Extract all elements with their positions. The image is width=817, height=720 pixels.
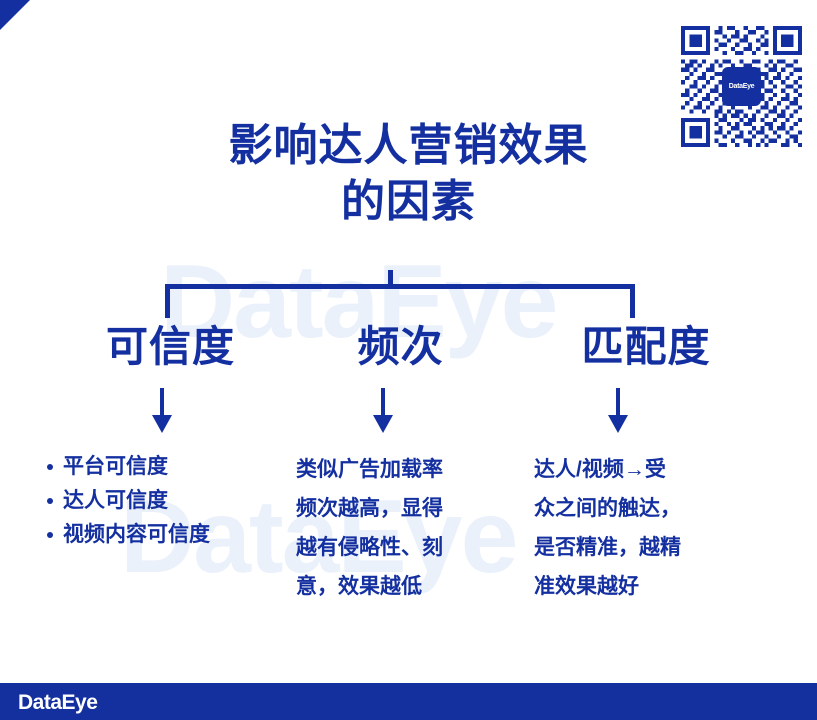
paragraph-line: 是否精准，越精 (528, 528, 758, 567)
bracket-horizontal-line (165, 284, 635, 289)
list-item-label: 达人可信度 (63, 489, 168, 512)
column-heading: 频次 (288, 322, 513, 372)
list-item-label: 视频内容可信度 (63, 523, 210, 546)
infographic-page: DataEye DataEye (0, 0, 817, 720)
column-body: 平台可信度 达人可信度 视频内容可信度 (45, 450, 290, 552)
footer-bar: DataEye (0, 683, 817, 720)
list-item: 达人可信度 (45, 484, 290, 518)
down-arrow-icon (605, 388, 631, 434)
paragraph-line: 类似广告加载率 (288, 450, 513, 489)
bullet-dot-icon (47, 464, 53, 470)
bracket-connector (160, 270, 640, 320)
factor-column-frequency: 频次 类似广告加载率 频次越高，显得 越有侵略性、刻 意，效果越低 (288, 322, 513, 606)
paragraph-line: 准效果越好 (528, 567, 758, 606)
factor-columns: 可信度 平台可信度 达人可信度 (0, 322, 817, 662)
arrow-container (288, 388, 513, 436)
down-arrow-icon (370, 388, 396, 434)
qr-center-logo: DataEye (722, 67, 761, 106)
title-line-1: 影响达人营销效果 (0, 118, 817, 174)
list-item-label: 平台可信度 (63, 455, 168, 478)
paragraph-line: 意，效果越低 (288, 567, 513, 606)
title-line-2: 的因素 (0, 174, 817, 230)
factor-column-match: 匹配度 达人/视频→受 众之间的触达， 是否精准，越精 准效果越好 (528, 322, 758, 606)
down-arrow-icon (149, 388, 175, 434)
bullet-list: 平台可信度 达人可信度 视频内容可信度 (45, 450, 290, 552)
page-title: 影响达人营销效果 的因素 (0, 118, 817, 230)
paragraph-line: 频次越高，显得 (288, 489, 513, 528)
factor-column-credibility: 可信度 平台可信度 达人可信度 (45, 322, 290, 552)
bracket-leg-right (630, 284, 635, 318)
list-item: 视频内容可信度 (45, 518, 290, 552)
paragraph-line: 达人/视频→受 (528, 450, 758, 489)
footer-logo: DataEye (18, 691, 97, 715)
column-body: 类似广告加载率 频次越高，显得 越有侵略性、刻 意，效果越低 (288, 450, 513, 606)
column-heading: 匹配度 (528, 322, 758, 372)
column-heading: 可信度 (45, 322, 290, 372)
bullet-dot-icon (47, 532, 53, 538)
corner-triangle-decoration (0, 0, 30, 30)
column-body: 达人/视频→受 众之间的触达， 是否精准，越精 准效果越好 (528, 450, 758, 606)
arrow-container (528, 388, 758, 436)
list-item: 平台可信度 (45, 450, 290, 484)
paragraph-line: 众之间的触达， (528, 489, 758, 528)
paragraph-line: 越有侵略性、刻 (288, 528, 513, 567)
arrow-container (45, 388, 290, 436)
bracket-leg-left (165, 284, 170, 318)
bullet-dot-icon (47, 498, 53, 504)
